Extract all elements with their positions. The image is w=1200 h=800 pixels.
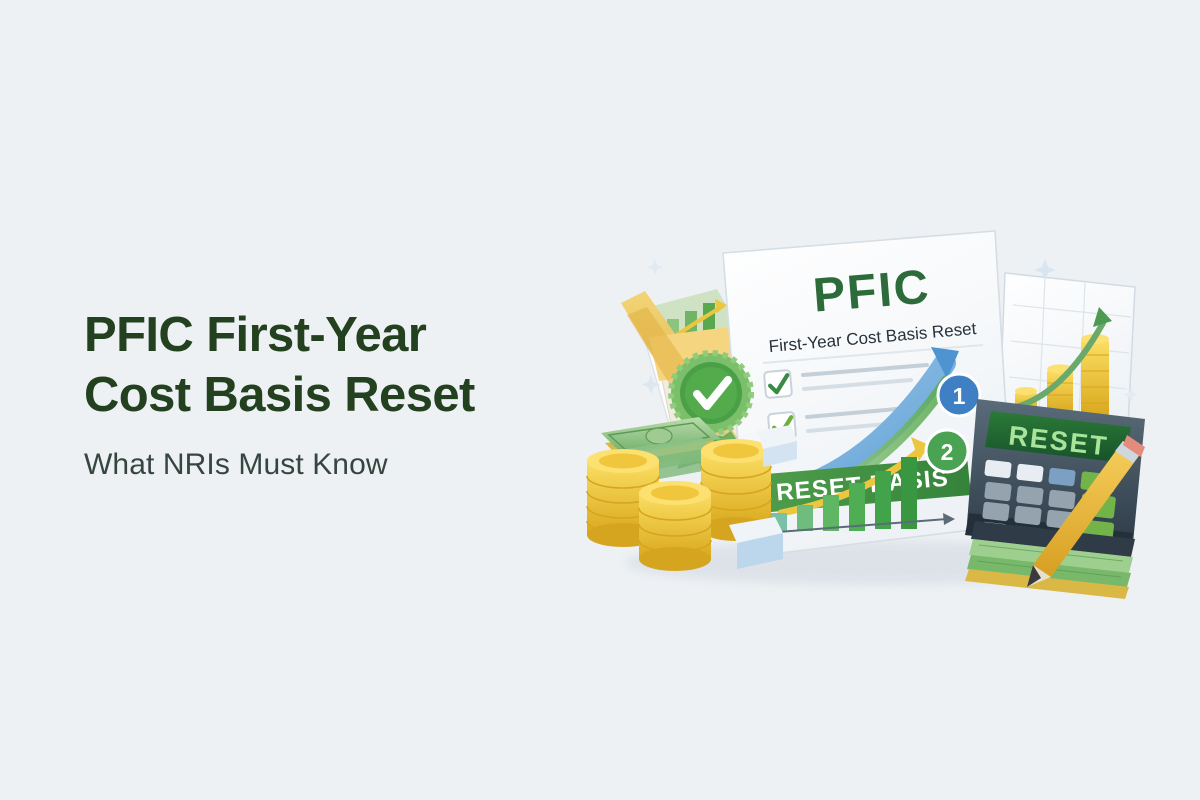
document-title: PFIC (811, 261, 932, 323)
page-subtitle: What NRIs Must Know (84, 447, 604, 483)
hero-illustration: PFIC First-Year Cost Basis Reset (575, 195, 1175, 615)
coin-stack-front (639, 481, 711, 571)
step-badge-1-number: 1 (953, 383, 966, 409)
step-badge-2-number: 2 (941, 439, 954, 465)
step-badge-1: 1 (938, 374, 980, 416)
sparkle-icon (647, 259, 663, 275)
hero-text-block: PFIC First-Year Cost Basis Reset What NR… (84, 305, 604, 483)
poster-canvas: PFIC First-Year Cost Basis Reset What NR… (0, 0, 1200, 800)
step-badge-2: 2 (926, 430, 968, 472)
page-title: PFIC First-Year Cost Basis Reset (84, 305, 604, 425)
